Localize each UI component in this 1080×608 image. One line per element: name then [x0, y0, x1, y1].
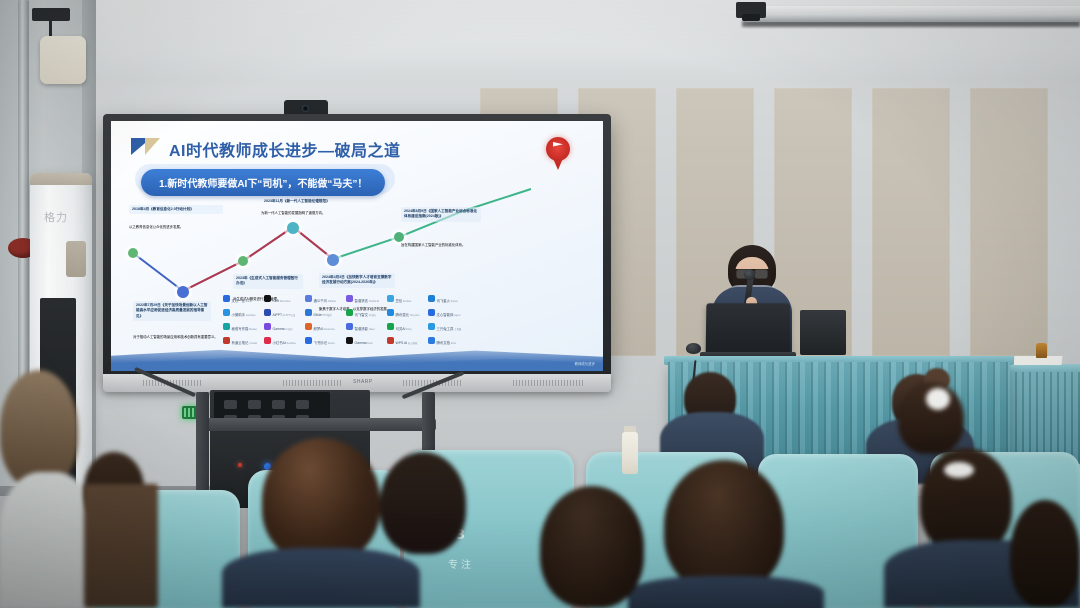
ai-tool-logo: 小红书AI RedNote [264, 331, 296, 349]
trophy-object [1036, 343, 1047, 358]
cart-status-led [238, 463, 242, 467]
ai-tool-logo-icon [387, 309, 394, 316]
projector-screen-rail [745, 6, 1080, 22]
ai-tool-logo-icon [346, 337, 353, 344]
ai-tool-logo-icon [387, 337, 394, 344]
wall-bracket-arm [32, 8, 74, 38]
timeline-label-1-note: 以之教育信息化公众化的进步发展。 [129, 225, 223, 230]
ai-tool-logo: WPS AI 办公智能 [387, 331, 417, 349]
ceiling-mount-bracket [736, 2, 766, 18]
timeline-node-3 [238, 256, 248, 266]
ai-tool-logo-label: 飞书妙记 [314, 341, 328, 345]
timeline-label-6-note: 旨在构建国家人工智能产业的标准化体系。 [401, 243, 481, 248]
ai-tool-logo-icon [387, 295, 394, 302]
timeline-label-2-heading: 2022年7月29日《关于加快场景创新以人工智能高水平应用促进经济高质量发展的指… [133, 301, 211, 321]
ai-tool-logo-label: 小红书AI [273, 341, 286, 345]
ai-tool-logo-icon [346, 323, 353, 330]
ai-tool-logo-icon [264, 295, 271, 302]
ai-tool-logo-label: 有道云笔记 [232, 341, 249, 345]
ai-tool-logo-icon [428, 323, 435, 330]
ai-tool-logo-icon [305, 309, 312, 316]
timeline-node-5 [327, 254, 339, 266]
computer-mouse[interactable] [686, 343, 701, 354]
timeline-node-4 [287, 222, 299, 234]
display-screen[interactable]: AI时代教师成长进步—破局之道 1.新时代教师要做AI下“司机”，不能做“马夫”… [111, 121, 603, 371]
timeline-label-4-note: 为新一代人工智能的发展指明了道德方向。 [261, 211, 373, 216]
ai-tool-logo-icon [346, 309, 353, 316]
seat-text-label: 专注 [448, 556, 474, 571]
ai-tool-logo-icon [305, 337, 312, 344]
laptop-screen[interactable] [706, 303, 791, 355]
ai-tool-logo-label: Gamma [355, 341, 367, 345]
secondary-monitor [800, 310, 846, 355]
ai-tool-logo-icon [264, 323, 271, 330]
timeline-node-6 [394, 232, 404, 242]
timeline-label-1-heading: 2018年4月《教育信息化2.0行动计划》 [129, 205, 223, 214]
ai-tool-logo-grid: 文心一言 BaiduKimi Moonshot通义千问 Alibaba智谱清言 … [223, 289, 473, 347]
timeline-label-2-note: 对于推动人工智能的场景应用和技术创新具有重要意义。 [133, 335, 219, 340]
ai-tool-logo-sublabel: Feishu [327, 342, 335, 345]
ai-tool-logo-label: WPS AI [396, 341, 408, 345]
timeline-label-6-heading: 2024年8月9日《国家人工智能产业综合标准化体系建设指南(2024版)》 [401, 207, 481, 222]
timeline-label-3-heading: 2023年《生成式人工智能服务管理暂行办法》 [233, 274, 303, 289]
interactive-display[interactable]: AI时代教师成长进步—破局之道 1.新时代教师要做AI下“司机”，不能做“马夫”… [103, 114, 611, 380]
ai-tool-logo-icon [264, 309, 271, 316]
ac-control-panel[interactable] [66, 241, 86, 277]
timeline-label-5-heading: 2024年4月3日《加快数字人才培育支撑数字经济发展行动方案(2024-2026… [319, 273, 395, 288]
side-desk [84, 484, 158, 608]
ai-tool-logo-label: 腾讯文档 [437, 341, 451, 345]
display-brand-label: SHARP [353, 379, 373, 385]
ai-tool-logo: 飞书妙记 Feishu [305, 331, 335, 349]
timeline-label-4-heading: 2023年11月《新一代人工智能伦理规范》 [261, 197, 373, 206]
presentation-slide: AI时代教师成长进步—破局之道 1.新时代教师要做AI下“司机”，不能做“马夫”… [111, 121, 603, 371]
ai-tool-logo-icon [223, 309, 230, 316]
ai-tool-logo-sublabel: 办公智能 [407, 342, 417, 345]
ai-tool-logo-icon [387, 323, 394, 330]
slide-footer: 教师成长进步 [575, 361, 595, 366]
cart-shelf [196, 418, 436, 431]
ai-tool-logo: 有道云笔记 Youdao [223, 331, 257, 349]
ai-tool-logo-icon [223, 295, 230, 302]
water-bottle [622, 432, 638, 474]
slide-title: AI时代教师成长进步—破局之道 [169, 137, 401, 161]
timeline-node-2 [177, 286, 189, 298]
timeline-node-1 [128, 248, 138, 258]
title-triangle-accent-icon [145, 138, 160, 155]
ai-tool-logo-icon [223, 323, 230, 330]
map-pin-icon [543, 137, 573, 175]
lecture-room-photo: 格力 AI时代教师成长进步—破局之道 1.新时代教师要做AI下“司机”，不能做“… [0, 0, 1080, 608]
ai-tool-logo-icon [428, 337, 435, 344]
side-table-skirt [1008, 372, 1080, 464]
ai-tool-logo-sublabel: Deck [367, 342, 373, 345]
ai-tool-logo-icon [346, 295, 353, 302]
ai-tool-logo-sublabel: Youdao [248, 342, 257, 345]
ai-tool-logo-icon [428, 309, 435, 316]
ai-tool-logo-sublabel: RedNote [286, 342, 296, 345]
wall-speaker [40, 36, 86, 84]
ai-tool-logo-icon [305, 323, 312, 330]
ac-brand-label: 格力 [44, 209, 68, 225]
ai-tool-logo-icon [305, 295, 312, 302]
ai-tool-logo: Gamma Deck [346, 331, 373, 349]
ai-tool-logo-sublabel: Docs [450, 342, 456, 345]
ai-tool-logo-icon [428, 295, 435, 302]
ai-tool-logo-icon [264, 337, 271, 344]
ai-tool-logo: 腾讯文档 Docs [428, 331, 456, 349]
ai-tool-logo-icon [223, 337, 230, 344]
